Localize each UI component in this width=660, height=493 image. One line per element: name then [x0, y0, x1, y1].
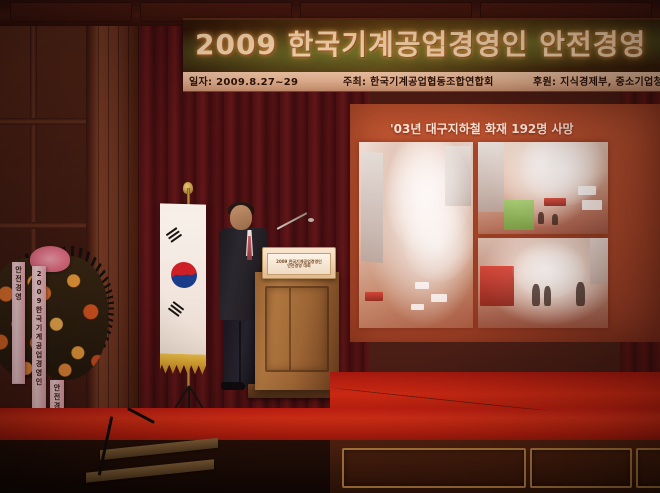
ribbon-char: 한 — [36, 306, 42, 315]
slide-title: '03년 대구지하철 화재 192명 사망 — [390, 120, 574, 137]
ribbon-char: 국 — [36, 315, 42, 324]
stage-front-panel — [342, 448, 526, 488]
wall-panel-grid — [0, 26, 96, 276]
podium-top: 2009 한국기계공업경영인 안전경영 대회 — [262, 247, 336, 279]
ribbon-char: 기 — [36, 324, 42, 333]
ceiling-coffer-panel — [10, 2, 132, 22]
ribbon-char: 경 — [36, 360, 42, 369]
ribbon-char: 경 — [15, 284, 21, 293]
trigram-gon — [167, 301, 185, 318]
ribbon-char: 계 — [36, 333, 42, 342]
ribbon-char: 인 — [36, 378, 42, 387]
korean-flag — [160, 203, 206, 356]
slide-photo-bottom-right — [478, 238, 608, 328]
ribbon-char: 공 — [36, 342, 42, 351]
ribbon-char: 전 — [15, 275, 21, 284]
speaker-legs — [224, 315, 256, 387]
ribbon-char: 2 — [37, 270, 42, 279]
ribbon-char: 0 — [37, 288, 42, 297]
stage-front-panel — [636, 448, 660, 488]
ribbon-char: 영 — [15, 293, 21, 302]
projection-screen: '03년 대구지하철 화재 192명 사망 — [350, 104, 660, 342]
slide-photo-left — [359, 142, 473, 328]
banner-host: 주최: 한국기계공업협동조합연합회 — [343, 73, 494, 88]
ribbon-char: 9 — [37, 297, 42, 306]
stage-front-panel — [530, 448, 632, 488]
slide-photo-top-right — [478, 142, 608, 234]
wreath-ribbon-left: 안 전 경 영 — [12, 262, 25, 384]
podium-body — [255, 272, 339, 390]
banner-sponsor: 후원: 지식경제부, 중소기업청, 중소기업 — [533, 73, 660, 88]
ribbon-char: 안 — [15, 266, 21, 275]
trigram-geon — [166, 227, 184, 244]
ribbon-char: 영 — [36, 369, 42, 378]
microphone-head — [308, 218, 314, 222]
ribbon-char: 업 — [36, 351, 42, 360]
podium-front-molding — [265, 286, 329, 372]
banner-title: 2009 한국기계공업경영인 안전경영 — [195, 23, 660, 63]
speaker-head — [230, 205, 252, 230]
event-banner: 2009 한국기계공업경영인 안전경영 — [183, 18, 660, 75]
podium-sign-line2: 안전경영 대회 — [287, 264, 310, 268]
banner-date: 일자: 2009.8.27~29 — [189, 73, 298, 88]
stage-front-wall — [330, 440, 660, 493]
taeguk-symbol — [171, 262, 197, 289]
podium-sign: 2009 한국기계공업경영인 안전경영 대회 — [267, 253, 331, 275]
wall-pillar — [86, 26, 148, 446]
ribbon-char: 전 — [54, 393, 60, 402]
speaker-shoe — [221, 382, 245, 390]
ribbon-char: 안 — [54, 384, 60, 393]
conference-photo: 2009 한국기계공업경영인 안전경영 일자: 2009.8.27~29 주최:… — [0, 0, 660, 493]
banner-subtitle-strip: 일자: 2009.8.27~29 주최: 한국기계공업협동조합연합회 후원: 지… — [183, 72, 660, 92]
ribbon-char: 0 — [37, 279, 42, 288]
